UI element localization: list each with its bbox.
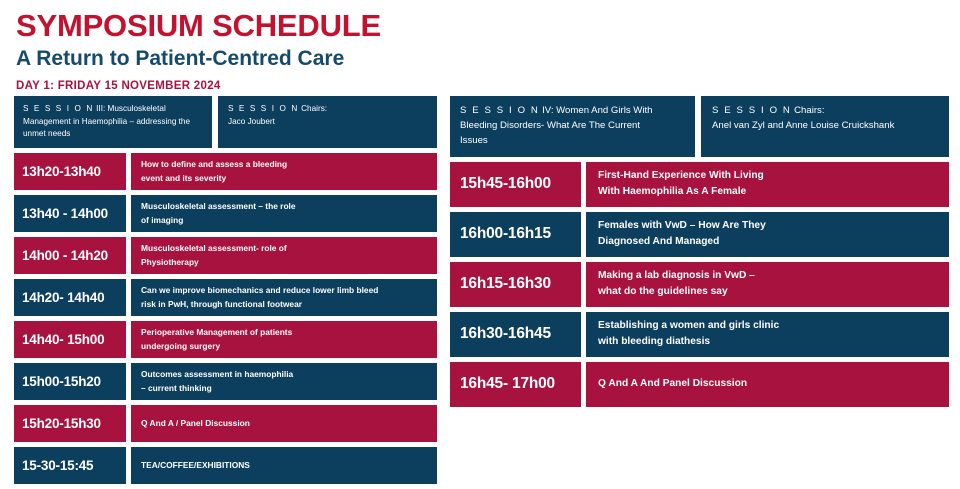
schedule-row-time: 16h15-16h30 — [450, 262, 581, 307]
schedule-row-topic-line2: of imaging — [141, 214, 296, 227]
session-number-title-right: IV: Women And Girls With — [542, 105, 652, 116]
schedule-row: 14h40- 15h00Perioperative Management of … — [14, 321, 437, 358]
schedule-row-topic: Q And A And Panel Discussion — [586, 362, 949, 407]
schedule-row: 16h00-16h15Females with VwD – How Are Th… — [450, 212, 949, 257]
schedule-row-topic-line1: Musculoskeletal assessment- role of — [141, 242, 287, 255]
schedule-row-topic-line2: – current thinking — [141, 382, 293, 395]
schedule-row-time: 16h45- 17h00 — [450, 362, 581, 407]
page-subtitle: A Return to Patient-Centred Care — [16, 47, 936, 71]
session-label-left: S E S S I O N — [23, 104, 94, 113]
chairs-label-left: S E S S I O N — [228, 104, 299, 113]
schedule-row-time: 16h00-16h15 — [450, 212, 581, 257]
schedule-row-topic-line2: risk in PwH, through functional footwear — [141, 298, 378, 311]
schedule-row: 16h15-16h30Making a lab diagnosis in VwD… — [450, 262, 949, 307]
schedule-row-topic-line1: TEA/COFFEE/EXHIBITIONS — [141, 459, 250, 472]
schedule-row-topic-line2: Diagnosed And Managed — [598, 234, 766, 250]
schedule-row-time: 15h45-16h00 — [450, 162, 581, 207]
schedule-row-topic-line2: With Haemophilia As A Female — [598, 184, 764, 200]
chairs-heading-left: Chairs: — [301, 104, 327, 113]
schedule-row-topic-line1: Q And A / Panel Discussion — [141, 417, 250, 430]
schedule-row-topic: First-Hand Experience With LivingWith Ha… — [586, 162, 949, 207]
session-number-title-left: III: Musculoskeletal — [96, 104, 166, 113]
chairs-names-left: Jaco Joubert — [228, 116, 429, 129]
schedule-row: 16h30-16h45Establishing a women and girl… — [450, 312, 949, 357]
schedule-row-topic: Q And A / Panel Discussion — [131, 405, 437, 442]
schedule-row: 15-30-15:45TEA/COFFEE/EXHIBITIONS — [14, 447, 437, 484]
schedule-row-topic: Musculoskeletal assessment – the roleof … — [131, 195, 437, 232]
session-title-line2-right: Bleeding Disorders- What Are The Current — [460, 119, 686, 134]
schedule-row-topic-line2: event and its severity — [141, 172, 287, 185]
schedule-row: 15h00-15h20Outcomes assessment in haemop… — [14, 363, 437, 400]
session-header-row-left: S E S S I O N III: Musculoskeletal Manag… — [14, 96, 437, 148]
schedule-row-topic: Making a lab diagnosis in VwD –what do t… — [586, 262, 949, 307]
schedule-row-topic-line1: Musculoskeletal assessment – the role — [141, 200, 296, 213]
session-label-right: S E S S I O N — [460, 105, 539, 116]
schedule-row-topic-line1: Females with VwD – How Are They — [598, 218, 766, 234]
schedule-row-topic-line1: Outcomes assessment in haemophilia — [141, 368, 293, 381]
schedule-row-topic-line2: with bleeding diathesis — [598, 334, 779, 350]
schedule-row-time: 15-30-15:45 — [14, 447, 126, 484]
session-title-line3-right: Issues — [460, 134, 686, 149]
schedule-row-topic: Musculoskeletal assessment- role ofPhysi… — [131, 237, 437, 274]
page-header: SYMPOSIUM SCHEDULE A Return to Patient-C… — [16, 10, 936, 92]
schedule-row-topic-line1: Making a lab diagnosis in VwD – — [598, 268, 755, 284]
schedule-row: 15h20-15h30Q And A / Panel Discussion — [14, 405, 437, 442]
schedule-rows-left: 13h20-13h40How to define and assess a bl… — [14, 153, 437, 484]
day-label: DAY 1: FRIDAY 15 NOVEMBER 2024 — [16, 80, 936, 92]
schedule-row-time: 14h40- 15h00 — [14, 321, 126, 358]
schedule-row-time: 14h20- 14h40 — [14, 279, 126, 316]
schedule-row-topic: TEA/COFFEE/EXHIBITIONS — [131, 447, 437, 484]
chairs-heading-right: Chairs: — [794, 105, 824, 116]
schedule-row-topic-line1: Q And A And Panel Discussion — [598, 376, 747, 392]
schedule-row-time: 13h40 - 14h00 — [14, 195, 126, 232]
schedule-row-topic: How to define and assess a bleedingevent… — [131, 153, 437, 190]
schedule-row-time: 14h00 - 14h20 — [14, 237, 126, 274]
schedule-row-time: 13h20-13h40 — [14, 153, 126, 190]
schedule-row: 16h45- 17h00Q And A And Panel Discussion — [450, 362, 949, 407]
schedule-row: 13h20-13h40How to define and assess a bl… — [14, 153, 437, 190]
session-column-left: S E S S I O N III: Musculoskeletal Manag… — [14, 96, 437, 489]
schedule-row-topic-line1: How to define and assess a bleeding — [141, 158, 287, 171]
session-title-box-left: S E S S I O N III: Musculoskeletal Manag… — [14, 96, 212, 148]
schedule-row-topic-line2: undergoing surgery — [141, 340, 292, 353]
schedule-row-topic: Perioperative Management of patientsunde… — [131, 321, 437, 358]
schedule-row-topic: Establishing a women and girls clinicwit… — [586, 312, 949, 357]
schedule-row-time: 16h30-16h45 — [450, 312, 581, 357]
chairs-names-right: Anel van Zyl and Anne Louise Cruickshank — [712, 119, 940, 134]
schedule-row: 14h00 - 14h20Musculoskeletal assessment-… — [14, 237, 437, 274]
schedule-row-topic-line1: First-Hand Experience With Living — [598, 168, 764, 184]
schedule-row-topic-line1: Perioperative Management of patients — [141, 326, 292, 339]
session-title-box-right: S E S S I O N IV: Women And Girls With B… — [450, 96, 695, 157]
schedule-row: 14h20- 14h40Can we improve biomechanics … — [14, 279, 437, 316]
session-title-line3-left: unmet needs — [23, 128, 204, 141]
session-header-row-right: S E S S I O N IV: Women And Girls With B… — [450, 96, 949, 157]
session-chairs-box-left: S E S S I O N Chairs: Jaco Joubert — [218, 96, 437, 148]
schedule-row-time: 15h20-15h30 — [14, 405, 126, 442]
session-chairs-box-right: S E S S I O N Chairs: Anel van Zyl and A… — [701, 96, 949, 157]
schedule-row: 15h45-16h00First-Hand Experience With Li… — [450, 162, 949, 207]
schedule-rows-right: 15h45-16h00First-Hand Experience With Li… — [450, 162, 949, 407]
schedule-row-topic-line1: Establishing a women and girls clinic — [598, 318, 779, 334]
schedule-row-topic-line2: Physiotherapy — [141, 256, 287, 269]
schedule-row-topic: Outcomes assessment in haemophilia– curr… — [131, 363, 437, 400]
page-title: SYMPOSIUM SCHEDULE — [16, 10, 936, 43]
symposium-schedule-page: SYMPOSIUM SCHEDULE A Return to Patient-C… — [0, 0, 960, 472]
schedule-row-topic: Can we improve biomechanics and reduce l… — [131, 279, 437, 316]
schedule-row-topic-line2: what do the guidelines say — [598, 284, 755, 300]
session-title-line2-left: Management in Haemophilia – addressing t… — [23, 116, 204, 129]
schedule-row-time: 15h00-15h20 — [14, 363, 126, 400]
chairs-label-right: S E S S I O N — [712, 105, 791, 116]
schedule-row-topic: Females with VwD – How Are TheyDiagnosed… — [586, 212, 949, 257]
session-column-right: S E S S I O N IV: Women And Girls With B… — [450, 96, 949, 412]
schedule-row: 13h40 - 14h00Musculoskeletal assessment … — [14, 195, 437, 232]
schedule-row-topic-line1: Can we improve biomechanics and reduce l… — [141, 284, 378, 297]
